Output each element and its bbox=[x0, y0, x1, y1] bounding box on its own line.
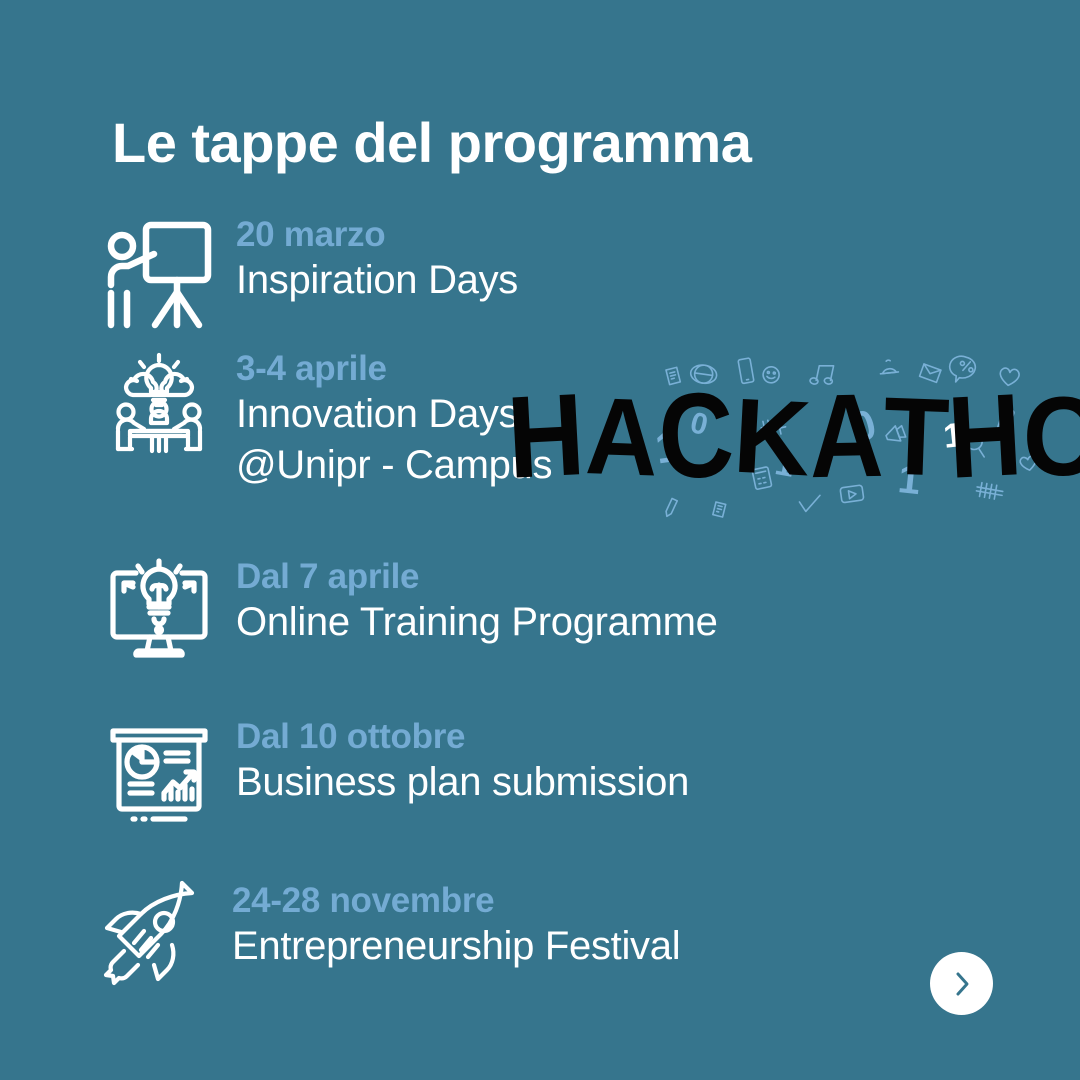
presenter-whiteboard-icon bbox=[96, 210, 222, 334]
timeline-item-inspiration-days[interactable]: 20 marzo Inspiration Days bbox=[96, 210, 518, 334]
hackathon-letter: O bbox=[1022, 380, 1080, 494]
timeline-item-text: 3-4 aprile Innovation Days @Unipr - Camp… bbox=[236, 344, 552, 491]
timeline-item-label-secondary: @Unipr - Campus bbox=[236, 440, 552, 491]
timeline-item-entrepreneurship-festival[interactable]: 24-28 novembre Entrepreneurship Festival bbox=[92, 876, 680, 1000]
timeline-item-text: Dal 7 aprile Online Training Programme bbox=[236, 552, 718, 648]
monitor-lightbulb-icon bbox=[96, 552, 222, 676]
timeline-item-date: Dal 7 aprile bbox=[236, 556, 718, 597]
timeline-item-text: Dal 10 ottobre Business plan submission bbox=[236, 712, 689, 808]
hackathon-letter: A bbox=[809, 377, 885, 497]
presentation-chart-board-icon bbox=[96, 712, 222, 836]
timeline-item-date: 24-28 novembre bbox=[232, 880, 680, 921]
hackathon-logo: 1 0 1 0 1 1 bbox=[648, 352, 1040, 524]
timeline-item-innovation-days[interactable]: 3-4 aprile Innovation Days @Unipr - Camp… bbox=[96, 344, 552, 491]
hackathon-wordmark: H A C K A T H O N bbox=[648, 352, 1040, 524]
timeline-item-text: 20 marzo Inspiration Days bbox=[236, 210, 518, 306]
timeline-item-text: 24-28 novembre Entrepreneurship Festival bbox=[232, 876, 680, 972]
timeline-item-label: Inspiration Days bbox=[236, 255, 518, 306]
timeline-list: 20 marzo Inspiration Days bbox=[0, 0, 1080, 1080]
timeline-item-online-training[interactable]: Dal 7 aprile Online Training Programme bbox=[96, 552, 718, 676]
timeline-item-label: Business plan submission bbox=[236, 757, 689, 808]
hackathon-letter: T bbox=[882, 381, 951, 493]
timeline-item-date: Dal 10 ottobre bbox=[236, 716, 689, 757]
poster-canvas: Le tappe del programma 20 marzo bbox=[0, 0, 1080, 1080]
hackathon-letter: A bbox=[584, 382, 660, 494]
hackathon-letter: C bbox=[657, 375, 736, 498]
next-button[interactable] bbox=[930, 952, 993, 1015]
hackathon-letter: H bbox=[505, 377, 588, 497]
timeline-item-label: Online Training Programme bbox=[236, 597, 718, 648]
team-brainstorm-lightbulb-icon bbox=[96, 344, 222, 468]
hackathon-letter: H bbox=[946, 377, 1025, 497]
rocket-icon bbox=[92, 876, 218, 1000]
chevron-right-icon bbox=[947, 969, 977, 999]
hackathon-letter: K bbox=[731, 383, 813, 493]
timeline-item-business-plan[interactable]: Dal 10 ottobre Business plan submission bbox=[96, 712, 689, 836]
timeline-item-label: Entrepreneurship Festival bbox=[232, 921, 680, 972]
timeline-item-date: 20 marzo bbox=[236, 214, 518, 255]
